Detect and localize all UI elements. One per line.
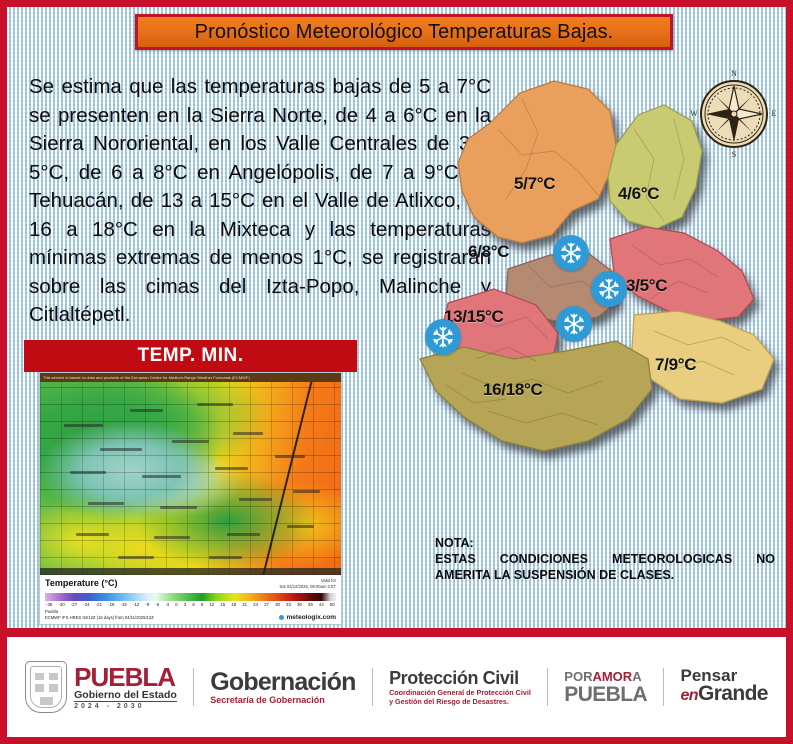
legend-tick: 15 [220,602,225,607]
legend-valid: Valid for Sat 04/12/2025, 06:00am CST [279,578,336,590]
legend-tick: 18 [231,602,236,607]
region-tehuacan[interactable] [632,311,774,403]
ecmwf-temperature-map [40,382,341,575]
legend-tick: 21 [242,602,247,607]
meteologix-logo-icon [279,615,284,620]
amor-amor: AMOR [592,669,632,684]
legend-tick: -36 [46,602,52,607]
citlaltepetl-marker[interactable] [556,306,592,342]
legend-tick: 36 [297,602,302,607]
legend-source-model: ECMWF IFS HRES 04/12Z (15 days) from 04/… [45,615,154,621]
footer-divider [663,668,664,706]
legend-header: Temperature (°C) Valid for Sat 04/12/202… [45,578,336,590]
logo-gobernacion: Gobernación Secretaría de Gobernación [210,669,355,705]
nota-line-2: AMERITA LA SUSPENSIÓN DE CLASES. [435,567,775,583]
legend-tick: -12 [133,602,139,607]
logo-puebla: PUEBLA Gobierno del Estado 2024 - 2030 [25,661,177,713]
puebla-subtitle: Gobierno del Estado [74,689,177,701]
nota-line-1: ESTAS CONDICIONES METEOROLOGICAS NO [435,551,775,567]
por-amor-a-line: PORAMORA [564,670,647,684]
legend-tick: 44 [319,602,324,607]
legend-title: Temperature (°C) [45,578,117,588]
footer-divider [193,668,194,706]
amor-a: A [632,669,641,684]
izta-popo-marker[interactable] [553,235,589,271]
pensar-line-2: enGrande [680,684,767,706]
legend-tick: -18 [108,602,114,607]
legend-tick: 6 [192,602,194,607]
title-banner: Pronóstico Meteorológico Temperaturas Ba… [135,14,673,50]
legend-tick: -9 [145,602,149,607]
proteccion-civil-subtitle-1: Coordinación General de Protección Civil [389,688,531,697]
map-place-labels [40,382,341,575]
footer-logo-bar: PUEBLA Gobierno del Estado 2024 - 2030 G… [5,635,788,739]
temp-label-mixteca: 16/18°C [483,380,543,400]
temp-label-valles-centrales: 3/5°C [626,276,667,296]
logo-por-amor-a-puebla: PORAMORA PUEBLA [564,670,647,705]
meteologix-brand-label: meteologix.com [287,614,336,621]
snowflake-icon [562,312,586,336]
legend-tick-row: -36 -30 -27 -24 -21 -18 -15 -12 -9 -6 -3… [45,602,336,607]
temp-label-angelopolis: 6/8°C [468,242,509,262]
pensar-en: en [680,687,697,704]
logo-proteccion-civil: Protección Civil Coordinación General de… [389,668,531,706]
legend-tick: -24 [83,602,89,607]
legend-tick: -27 [71,602,77,607]
poster-root: Pronóstico Meteorológico Temperaturas Ba… [0,0,793,744]
temp-label-tehuacan: 7/9°C [655,355,696,375]
legend-tick: -21 [96,602,102,607]
temp-min-heading: TEMP. MIN. [24,340,357,372]
pensar-grande: Grande [698,682,768,705]
snowflake-icon [597,277,621,301]
legend-tick: 50 [330,602,335,607]
puebla-coat-of-arms-icon [25,661,67,713]
puebla-state-map: 5/7°C 4/6°C 3/5°C 6/8°C 13/15°C 7/9°C 16… [402,59,788,499]
legend-tick: 9 [201,602,203,607]
gobernacion-wordmark: Gobernación [210,669,355,695]
ecmwf-credit: This service is based on data and produc… [40,373,341,382]
legend-footer: Puebla ECMWF IFS HRES 04/12Z (15 days) f… [45,609,336,621]
temp-label-sierra-norte: 5/7°C [514,174,555,194]
region-valles-centrales[interactable] [610,227,754,321]
map-attribution-bar [40,568,341,575]
amor-por: POR [564,669,592,684]
southwest-marker[interactable] [425,319,461,355]
legend-valid-value: Sat 04/12/2025, 06:00am CST [279,584,336,590]
legend-tick: -6 [155,602,159,607]
legend-tick: 33 [286,602,291,607]
proteccion-civil-subtitle-2: y Gestión del Riesgo de Desastres. [389,697,531,706]
legend-source: Puebla ECMWF IFS HRES 04/12Z (15 days) f… [45,609,154,621]
proteccion-civil-wordmark: Protección Civil [389,668,531,688]
malinche-marker[interactable] [591,271,627,307]
logo-pensar-en-grande: Pensar enGrande [680,668,767,706]
legend-tick: 3 [184,602,186,607]
nota-heading: NOTA: [435,535,775,551]
meteologix-brand[interactable]: meteologix.com [279,614,336,621]
legend-tick: 30 [275,602,280,607]
title-banner-inner: Pronóstico Meteorológico Temperaturas Ba… [138,17,670,47]
region-sierra-nororiental[interactable] [608,105,702,229]
legend-tick: -3 [165,602,169,607]
legend-tick: -30 [58,602,64,607]
footer-divider [372,668,373,706]
region-sierra-norte[interactable] [458,81,616,243]
legend-color-bar [45,593,336,601]
puebla-years: 2024 - 2030 [74,701,177,710]
amor-puebla: PUEBLA [564,684,647,705]
snowflake-icon [559,241,583,265]
legend-tick: 27 [264,602,269,607]
footer-divider [547,668,548,706]
temp-label-sierra-nororiental: 4/6°C [618,184,659,204]
legend-tick: 24 [253,602,258,607]
puebla-wordmark: PUEBLA [74,665,177,689]
legend-tick: 39 [308,602,313,607]
main-panel: Pronóstico Meteorológico Temperaturas Ba… [5,5,788,630]
legend-tick: -15 [121,602,127,607]
temp-min-heading-label: TEMP. MIN. [138,345,244,367]
page-title: Pronóstico Meteorológico Temperaturas Ba… [195,21,614,44]
temp-min-map-image[interactable]: This service is based on data and produc… [39,372,342,625]
legend-tick: 0 [175,602,177,607]
nota-block: NOTA: ESTAS CONDICIONES METEOROLOGICAS N… [435,535,775,583]
legend-tick: 12 [209,602,214,607]
gobernacion-subtitle: Secretaría de Gobernación [210,695,355,705]
snowflake-icon [431,325,455,349]
temperature-legend: Temperature (°C) Valid for Sat 04/12/202… [40,575,341,625]
